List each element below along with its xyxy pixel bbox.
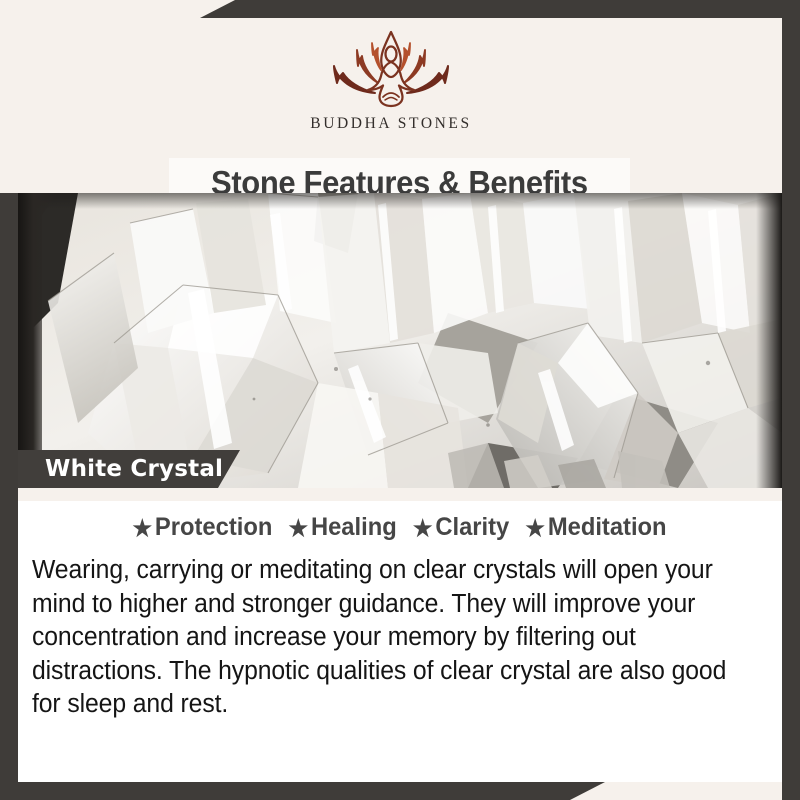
frame-top-bar: [0, 0, 800, 18]
brand-name: BUDDHA STONES: [310, 115, 471, 133]
star-icon-4: ★: [525, 515, 545, 542]
content-panel: ★Protection★Healing★Clarity★Meditation W…: [18, 501, 782, 782]
star-icon-1: ★: [132, 515, 152, 542]
photo-panel-divider: [18, 488, 782, 501]
benefit-item-healing: Healing: [311, 513, 397, 542]
crystal-cluster-image: [18, 193, 782, 488]
stone-photo: [18, 193, 782, 488]
description-text: Wearing, carrying or meditating on clear…: [32, 554, 748, 722]
poster-root: BUDDHA STONES Stone Features & Benefits: [0, 0, 800, 800]
benefits-list: ★Protection★Healing★Clarity★Meditation: [37, 513, 763, 542]
frame-right-bar: [782, 0, 800, 800]
star-icon-3: ★: [413, 515, 433, 542]
header: BUDDHA STONES Stone Features & Benefits: [0, 18, 782, 193]
brand-logo: BUDDHA STONES: [0, 28, 782, 133]
stone-name-label: White Crystal: [45, 456, 223, 482]
benefit-item-meditation: Meditation: [548, 513, 667, 542]
benefit-item-clarity: Clarity: [435, 513, 509, 542]
benefit-item-protection: Protection: [155, 513, 272, 542]
frame-bottom-bar: [0, 782, 800, 800]
star-icon-2: ★: [288, 515, 308, 542]
stone-name-banner: White Crystal: [18, 450, 240, 488]
frame-left-bar: [0, 190, 18, 782]
lotus-meditation-figure-icon: [316, 28, 466, 111]
